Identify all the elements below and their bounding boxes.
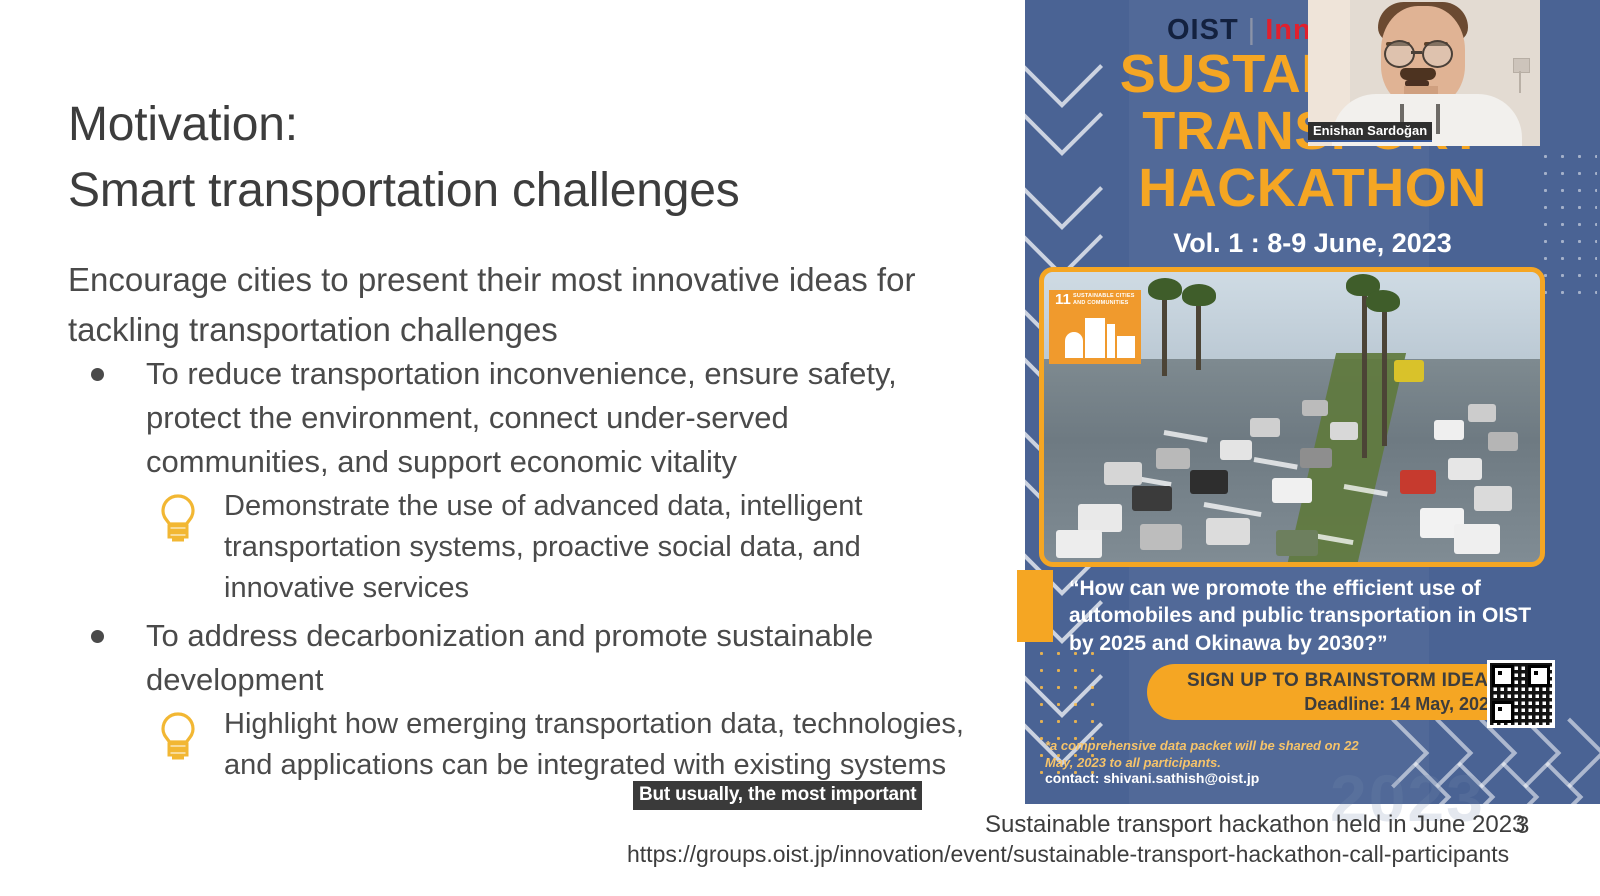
slide-title: Motivation: Smart transportation challen… — [68, 92, 968, 224]
presentation-screenshare-view: Motivation: Smart transportation challen… — [0, 0, 1600, 896]
slide-bullet-list: To reduce transportation inconvenience, … — [68, 352, 968, 790]
webcam-participant-name-label: Enishan Sardoğan — [1308, 122, 1432, 142]
webcam-person-glasses-left — [1384, 40, 1415, 68]
sub-bullet-text: Demonstrate the use of advanced data, in… — [224, 486, 968, 610]
sub-bullet-text: Highlight how emerging transportation da… — [224, 704, 968, 786]
sdg-badge-caption: SUSTAINABLE CITIES AND COMMUNITIES — [1073, 293, 1137, 307]
poster-subtitle: Vol. 1 : 8-9 June, 2023 — [1025, 228, 1600, 259]
bullet-text: To address decarbonization and promote s… — [146, 614, 968, 702]
sub-bullet-item: Demonstrate the use of advanced data, in… — [68, 486, 968, 610]
qr-code[interactable] — [1487, 660, 1555, 728]
slide-title-line-2: Smart transportation challenges — [68, 158, 968, 224]
signup-cta-deadline: Deadline: 14 May, 2023 — [1304, 694, 1499, 715]
slide-lead-paragraph: Encourage cities to present their most i… — [68, 255, 948, 354]
bullet-dot-icon — [91, 368, 104, 381]
webcam-glasses-bridge — [1411, 51, 1422, 54]
signup-cta-box[interactable]: SIGN UP TO BRAINSTORM IDEAS! Deadline: 1… — [1147, 664, 1517, 720]
webcam-wall-outlet — [1513, 58, 1530, 73]
bullet-item: To address decarbonization and promote s… — [68, 614, 968, 702]
slide-title-line-1: Motivation: — [68, 92, 968, 158]
oist-logo: OIST|Inno — [1167, 14, 1330, 47]
webcam-video-tile[interactable]: Enishan Sardoğan — [1308, 0, 1540, 146]
slide-content-area: Motivation: Smart transportation challen… — [0, 0, 1000, 896]
webcam-person-moustache — [1400, 68, 1436, 80]
oist-logo-main: OIST — [1167, 14, 1239, 46]
slide-footer-caption: Sustainable transport hackathon held in … — [985, 811, 1525, 839]
poster-quote: “How can we promote the efficient use of… — [1069, 575, 1539, 657]
webcam-person-glasses-right — [1422, 40, 1453, 68]
bullet-item: To reduce transportation inconvenience, … — [68, 352, 968, 484]
webcam-hoodie-string-right — [1436, 104, 1440, 134]
lightbulb-icon — [158, 710, 198, 766]
poster-contact-email: contact: shivani.sathish@oist.jp — [1045, 770, 1259, 786]
sdg-11-badge: 11 SUSTAINABLE CITIES AND COMMUNITIES — [1049, 290, 1141, 364]
live-caption-overlay: But usually, the most important — [633, 781, 922, 810]
lightbulb-icon — [158, 492, 198, 548]
bullet-text: To reduce transportation inconvenience, … — [146, 352, 968, 484]
sdg-badge-number: 11 — [1055, 291, 1071, 308]
slide-page-number: 3 — [1516, 812, 1529, 840]
bullet-dot-icon — [91, 630, 104, 643]
sub-bullet-item: Highlight how emerging transportation da… — [68, 704, 968, 786]
slide-footer-url[interactable]: https://groups.oist.jp/innovation/event/… — [627, 841, 1509, 868]
poster-left-white-band — [999, 0, 1025, 804]
oist-logo-separator: | — [1248, 14, 1257, 46]
signup-cta-headline: SIGN UP TO BRAINSTORM IDEAS! — [1187, 670, 1508, 692]
quote-accent-bar — [1017, 570, 1053, 642]
